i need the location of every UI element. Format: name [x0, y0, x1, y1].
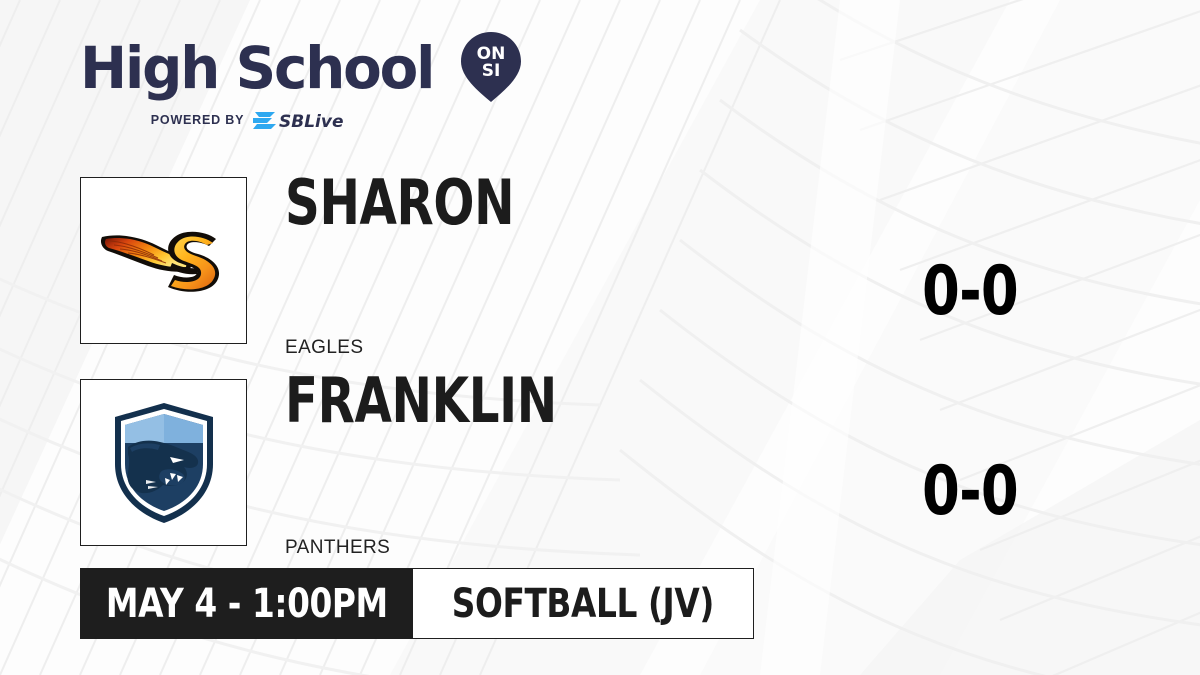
sblive-logo: SBLive	[253, 109, 361, 131]
brand-row: High School ON SI	[80, 33, 520, 103]
panther-shield-logo	[108, 400, 220, 526]
powered-by-row: POWERED BY SBLive	[80, 111, 432, 129]
pin-text-si: SI	[482, 61, 501, 81]
game-datetime-label: MAY 4 - 1:00PM	[106, 581, 388, 627]
game-sport-label: SOFTBALL (JV)	[452, 581, 714, 627]
game-info-bar: MAY 4 - 1:00PM SOFTBALL (JV)	[80, 568, 754, 639]
brand-header: High School ON SI POWERED BY	[80, 33, 520, 133]
team-mascot-home: EAGLES	[285, 337, 363, 359]
powered-by-label: POWERED BY	[151, 113, 244, 127]
game-sport-segment: SOFTBALL (JV)	[413, 568, 754, 639]
sblive-wordmark: SBLive	[279, 112, 343, 131]
team-logo-box-home	[80, 177, 247, 344]
team-logo-box-away	[80, 379, 247, 546]
team-mascot-away: PANTHERS	[285, 537, 390, 559]
winged-s-eagles-logo	[94, 211, 234, 311]
team-name-away: FRANKLIN	[285, 370, 557, 432]
onsi-pin-icon: ON SI	[458, 30, 524, 109]
team-record-home: 0-0	[898, 258, 1042, 326]
high-school-wordmark: High School	[80, 39, 433, 97]
team-name-home: SHARON	[285, 172, 514, 234]
team-record-away: 0-0	[898, 458, 1042, 526]
scoreboard-graphic: High School ON SI POWERED BY	[0, 0, 1200, 675]
game-datetime-segment: MAY 4 - 1:00PM	[80, 568, 413, 639]
